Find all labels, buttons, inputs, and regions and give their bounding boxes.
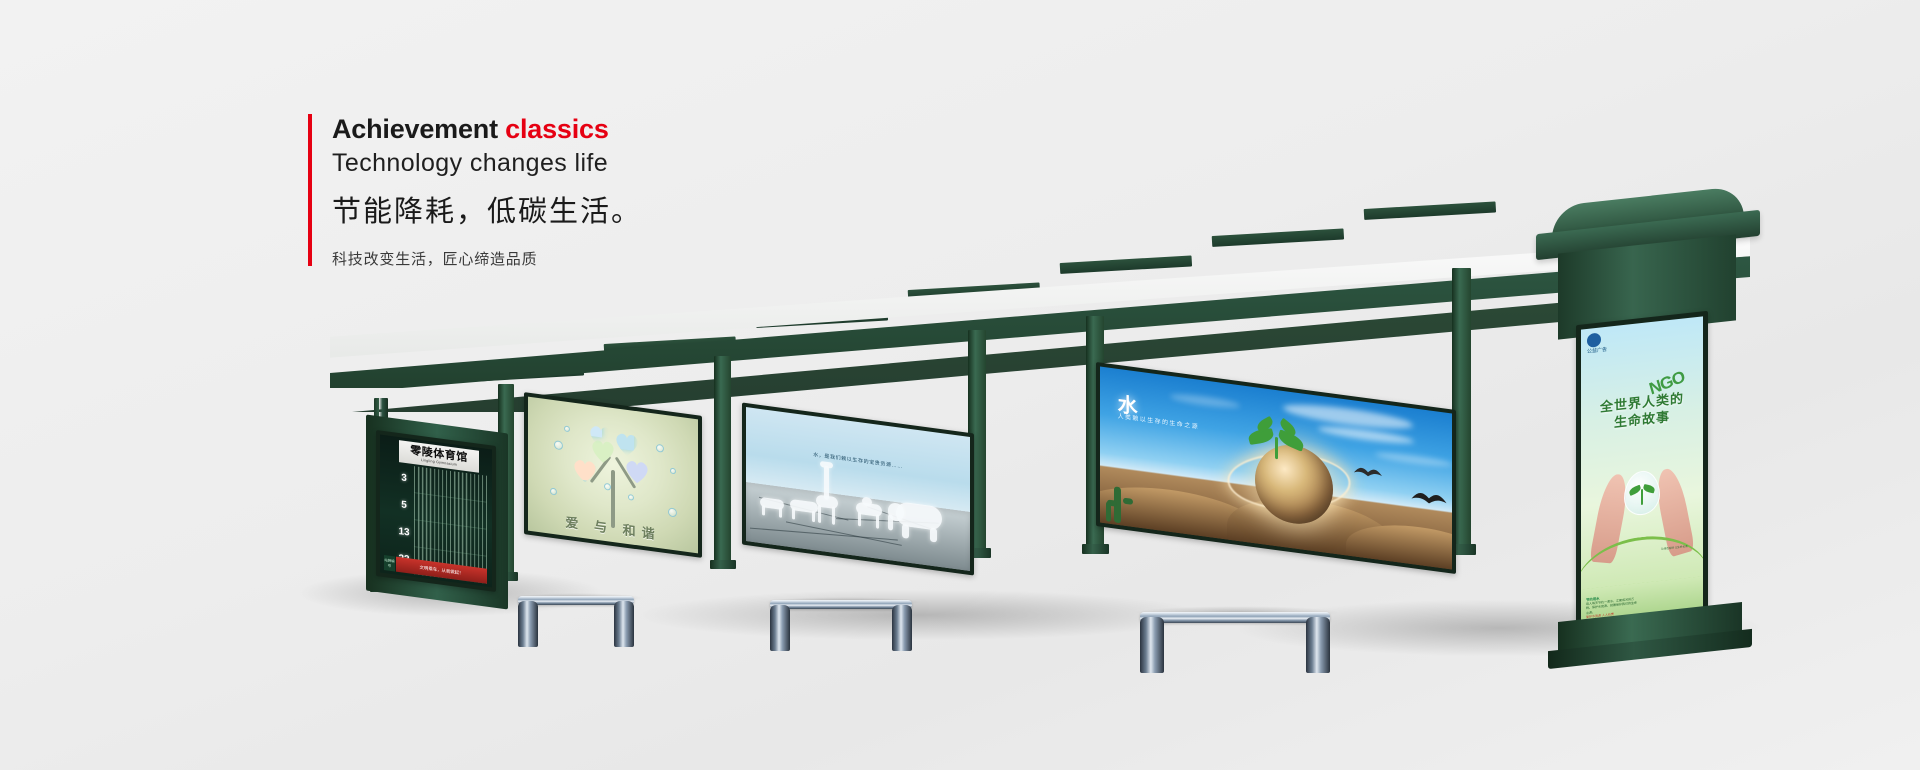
bubble-icon [668, 507, 677, 517]
lion-icon [792, 508, 795, 519]
bird-icon [1353, 463, 1383, 483]
board-badge: 站牌编号 [384, 555, 395, 571]
panel-heart-tree[interactable]: 爱 与 和谐 [524, 392, 702, 558]
bubble-icon [628, 494, 634, 501]
headline-line1: Achievement classics [332, 112, 828, 146]
route-number: 13 [396, 518, 412, 547]
route-number: 5 [396, 491, 412, 520]
elephant-icon [930, 528, 937, 543]
bubble-icon [554, 440, 563, 450]
giraffe-icon [818, 505, 821, 523]
bench-leg-left [1140, 617, 1164, 673]
cactus-icon [1106, 501, 1111, 522]
lion-icon [812, 511, 815, 522]
cloud-wisp [1170, 392, 1240, 410]
heart-icon [588, 423, 602, 438]
zebra-icon [762, 505, 765, 515]
cloud-wisp [1375, 450, 1452, 468]
bubble-icon [656, 444, 664, 453]
headline-line2: Technology changes life [332, 146, 828, 180]
schedule-board: 零陵体育馆 Lingling Gymnasium 3 5 13 23 站牌编号 … [380, 435, 492, 588]
panel-eco-headline: 全世界人类的 生命故事 [1581, 387, 1703, 434]
headline-chinese-subtitle: 科技改变生活，匠心缔造品质 [332, 248, 828, 269]
panel-water[interactable]: 水 人类赖以生存的生命之源 [1096, 362, 1456, 574]
roof-batten [1364, 209, 1496, 220]
bench-leg-right [1306, 617, 1330, 673]
camel-icon [876, 514, 879, 528]
bench-leg-right [892, 605, 912, 651]
bubble-icon [564, 425, 570, 432]
logo-label: 公益广告 [1587, 347, 1607, 355]
ngo-logo: 公益广告 [1587, 332, 1607, 356]
bubble-icon [604, 483, 611, 491]
heart-icon [624, 457, 652, 487]
bubble-icon [670, 468, 676, 475]
route-stop-grid [414, 466, 487, 567]
giraffe-icon [820, 461, 833, 469]
headline-block: Achievement classics Technology changes … [308, 112, 828, 269]
bench-leg-right [614, 601, 634, 647]
giraffe-icon [832, 507, 835, 525]
roof-batten [1212, 236, 1344, 247]
bench-seat [770, 600, 912, 609]
headline-line1-main: Achievement [332, 114, 505, 144]
panel-eco-artwork: 公益广告 NGO 全世界人类的 生命故事 节约用水 每人每天节约一滴水，汇聚成河… [1581, 316, 1703, 625]
headline-line1-accent: classics [505, 114, 609, 144]
cactus-icon [1123, 498, 1133, 505]
panel-animals[interactable]: 水，是我们赖以生存的宝贵资源…… [742, 403, 974, 576]
bench-seat [1140, 612, 1330, 623]
elephant-icon [888, 514, 893, 531]
bench-leg-left [770, 605, 790, 651]
post-foot-5 [1082, 544, 1109, 554]
elephant-icon [902, 524, 909, 539]
bench-leg-left [518, 601, 538, 647]
heart-icon [614, 430, 634, 451]
panel-heart-tree-artwork: 爱 与 和谐 [528, 397, 698, 554]
crack-line [786, 522, 902, 547]
sprout-stem-icon [1641, 489, 1643, 505]
route-number: 3 [396, 464, 412, 493]
headline-chinese-title: 节能降耗，低碳生活。 [332, 192, 828, 232]
panel-water-caption: 人类赖以生存的生命之源 [1118, 411, 1199, 431]
camel-icon [858, 512, 861, 526]
post-foot-3 [710, 560, 736, 569]
zebra-icon [779, 507, 782, 517]
panel-bus-schedule[interactable]: 零陵体育馆 Lingling Gymnasium 3 5 13 23 站牌编号 … [376, 430, 496, 592]
panel-animals-artwork: 水，是我们赖以生存的宝贵资源…… [746, 407, 970, 571]
panel-animals-caption: 水，是我们赖以生存的宝贵资源…… [746, 442, 970, 479]
bubble-icon [550, 488, 557, 496]
panel-eco-vertical[interactable]: 公益广告 NGO 全世界人类的 生命故事 节约用水 每人每天节约一滴水，汇聚成河… [1576, 311, 1708, 631]
accent-rule [308, 114, 312, 266]
support-post-3 [714, 356, 731, 564]
roof-batten [1060, 263, 1192, 274]
logo-mark-icon [1587, 332, 1601, 348]
shelter-scene: 公益广告 NGO 全世界人类的 生命故事 节约用水 每人每天节约一滴水，汇聚成河… [0, 0, 1920, 770]
bird-icon [1410, 486, 1448, 511]
sprout-stem-icon [1275, 437, 1278, 459]
panel-water-artwork: 水 人类赖以生存的生命之源 [1100, 367, 1452, 570]
